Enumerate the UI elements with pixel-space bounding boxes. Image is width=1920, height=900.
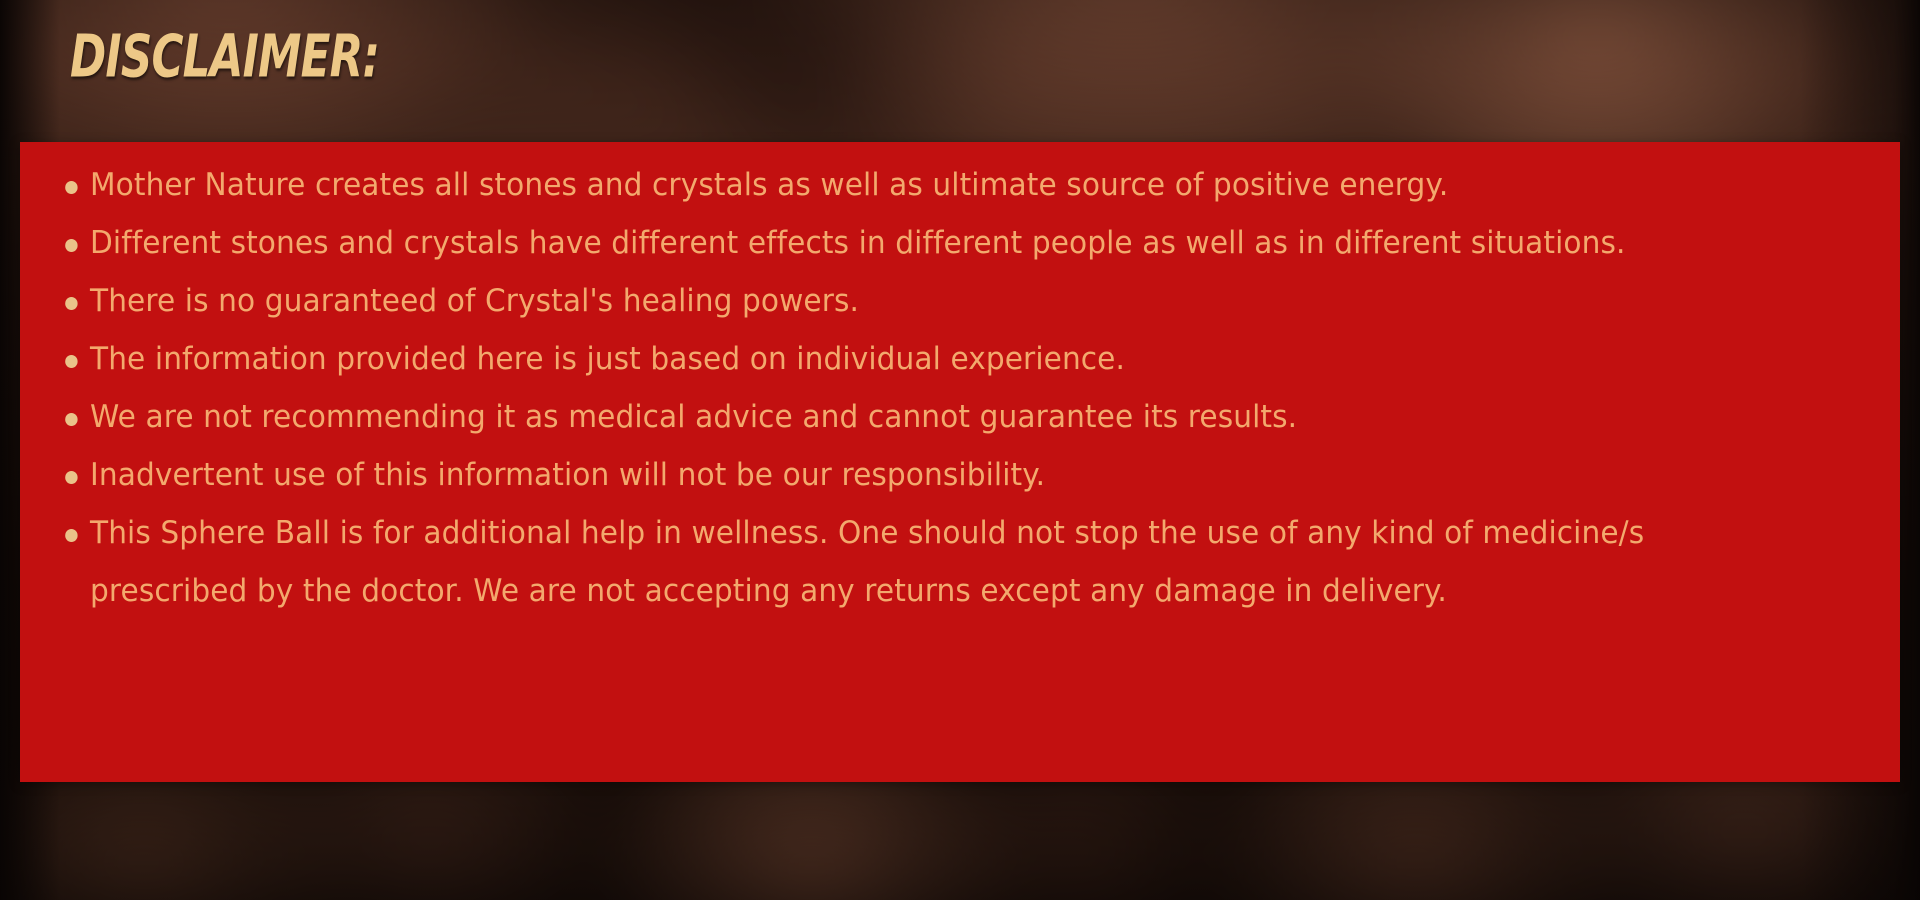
list-item: Inadvertent use of this information will… [48,446,1799,504]
list-item: The information provided here is just ba… [48,330,1799,388]
list-item: We are not recommending it as medical ad… [48,388,1799,446]
page-title: DISCLAIMER: [70,28,379,87]
list-item: This Sphere Ball is for additional help … [48,504,1799,620]
disclaimer-panel: Mother Nature creates all stones and cry… [20,142,1900,782]
list-item: Mother Nature creates all stones and cry… [48,156,1799,214]
list-item: There is no guaranteed of Crystal's heal… [48,272,1799,330]
disclaimer-slide: DISCLAIMER: Mother Nature creates all st… [0,0,1920,900]
list-item: Different stones and crystals have diffe… [48,214,1799,272]
disclaimer-list: Mother Nature creates all stones and cry… [48,156,1882,620]
